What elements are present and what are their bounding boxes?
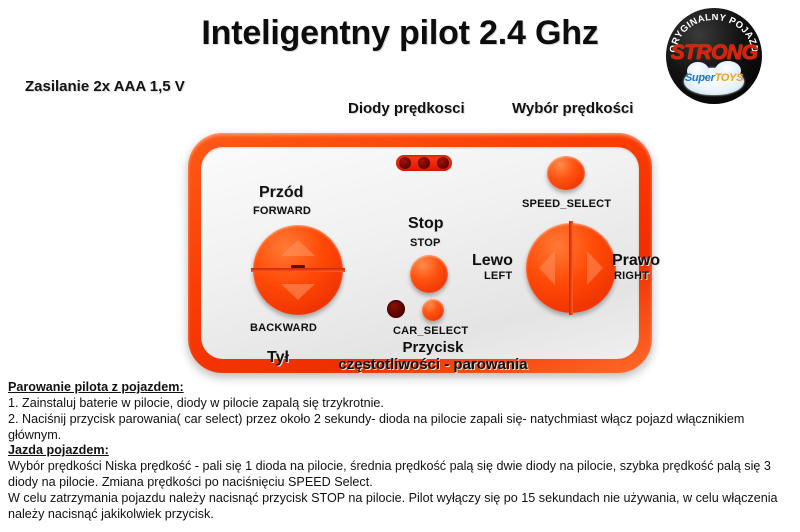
speed-led-1 (399, 157, 411, 169)
speed-led-bar (396, 155, 452, 171)
driving-heading: Jazda pojazdem: (8, 443, 798, 459)
label-pairing-line1: Przycisk (353, 339, 513, 356)
speed-led-2 (418, 157, 430, 169)
rocker-notch (291, 265, 305, 268)
brand-badge: ORYGINALNY POJAZD STRONG 2 SuperTOYS (666, 8, 762, 104)
triangle-down-icon (281, 284, 315, 300)
label-right-en: RIGHT (614, 270, 649, 282)
label-pairing-line2: częstotliwości - parowania (329, 356, 537, 373)
label-car-select: CAR_SELECT (393, 325, 468, 337)
driving-line-1: Wybór prędkości Niska prędkość - pali si… (8, 459, 798, 491)
label-backward-pl: Tył (267, 349, 289, 367)
triangle-left-icon (539, 251, 555, 285)
speed-select-button[interactable] (547, 156, 585, 190)
forward-backward-rocker[interactable] (253, 225, 343, 315)
pairing-step-1: 1. Zainstaluj baterie w pilocie, diody w… (8, 396, 798, 412)
badge-cloud-label: SuperTOYS (684, 72, 744, 84)
pairing-step-2: 2. Naciśnij przycisk parowania( car sele… (8, 412, 798, 444)
label-forward-pl: Przód (259, 184, 303, 202)
label-stop-en: STOP (410, 237, 441, 249)
instructions-block: Parowanie pilota z pojazdem: 1. Zainstal… (8, 380, 798, 523)
label-left-en: LEFT (484, 270, 512, 282)
pairing-led (387, 300, 405, 318)
remote-face: Przód FORWARD BACKWARD Tył Stop STOP CAR… (201, 147, 639, 359)
label-stop-pl: Stop (408, 215, 444, 233)
driving-line-2: W celu zatrzymania pojazdu należy nacisn… (8, 491, 798, 523)
label-speed-select-en: SPEED_SELECT (522, 198, 611, 210)
rocker-split-line (251, 268, 345, 272)
cloud-text-toys: TOYS (715, 72, 744, 84)
label-forward-en: FORWARD (253, 205, 311, 217)
pairing-heading: Parowanie pilota z pojazdem: (8, 380, 798, 396)
car-select-button[interactable] (422, 299, 444, 321)
callout-speed-leds: Diody prędkosci (348, 100, 465, 117)
power-note: Zasilanie 2x AAA 1,5 V (25, 78, 185, 95)
label-left-pl: Lewo (472, 252, 513, 270)
rocker-split-line (569, 221, 573, 315)
cloud-text-super: Super (685, 72, 715, 84)
product-instruction-page: Inteligentny pilot 2.4 Ghz Zasilanie 2x … (0, 0, 800, 532)
triangle-right-icon (587, 251, 603, 285)
label-backward-en: BACKWARD (250, 322, 317, 334)
triangle-up-icon (281, 240, 315, 256)
remote-control: Przód FORWARD BACKWARD Tył Stop STOP CAR… (188, 133, 652, 373)
speed-led-3 (437, 157, 449, 169)
stop-button[interactable] (410, 255, 448, 293)
page-title: Inteligentny pilot 2.4 Ghz (150, 14, 650, 53)
left-right-rocker[interactable] (526, 223, 616, 313)
label-right-pl: Prawo (612, 252, 660, 270)
callout-speed-select: Wybór prędkości (512, 100, 633, 117)
